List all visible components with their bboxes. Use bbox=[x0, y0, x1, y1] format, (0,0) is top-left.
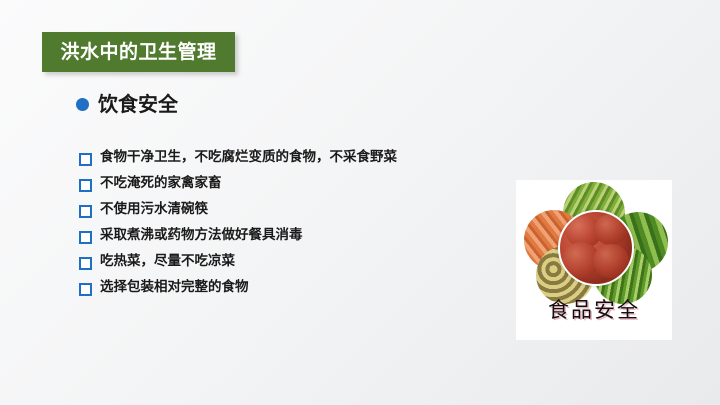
slide-canvas: 洪水中的卫生管理 饮食安全 食物干净卫生，不吃腐烂变质的食物，不采食野菜 不吃淹… bbox=[0, 0, 720, 405]
list-item-label: 选择包装相对完整的食物 bbox=[100, 278, 249, 297]
slide-title-banner: 洪水中的卫生管理 bbox=[42, 32, 235, 72]
list-item: 采取煮沸或药物方法做好餐具消毒 bbox=[79, 226, 499, 252]
tomatoes-photo bbox=[558, 210, 634, 286]
tomato-shape bbox=[593, 244, 629, 278]
list-item: 不使用污水清碗筷 bbox=[79, 200, 499, 226]
flower-collage bbox=[516, 182, 672, 304]
list-item-label: 食物干净卫生，不吃腐烂变质的食物，不采食野菜 bbox=[100, 148, 397, 167]
list-item-label: 不使用污水清碗筷 bbox=[100, 200, 208, 219]
list-item-label: 采取煮沸或药物方法做好餐具消毒 bbox=[100, 226, 303, 245]
image-caption: 食品安全 bbox=[516, 300, 672, 321]
hollow-square-bullet-icon bbox=[79, 283, 92, 296]
slide-title-text: 洪水中的卫生管理 bbox=[60, 43, 216, 62]
food-safety-image-card: 食品安全 bbox=[516, 180, 672, 340]
list-item: 吃热菜，尽量不吃凉菜 bbox=[79, 252, 499, 278]
hollow-square-bullet-icon bbox=[79, 231, 92, 244]
hollow-square-bullet-icon bbox=[79, 257, 92, 270]
hollow-square-bullet-icon bbox=[79, 153, 92, 166]
list-item: 选择包装相对完整的食物 bbox=[79, 278, 499, 304]
section-heading: 饮食安全 bbox=[76, 94, 178, 114]
list-item: 不吃淹死的家禽家畜 bbox=[79, 174, 499, 200]
hollow-square-bullet-icon bbox=[79, 205, 92, 218]
list-item-label: 吃热菜，尽量不吃凉菜 bbox=[100, 252, 235, 271]
bullet-list: 食物干净卫生，不吃腐烂变质的食物，不采食野菜 不吃淹死的家禽家畜 不使用污水清碗… bbox=[79, 148, 499, 304]
list-item-label: 不吃淹死的家禽家畜 bbox=[100, 174, 222, 193]
section-heading-text: 饮食安全 bbox=[98, 94, 178, 114]
hollow-square-bullet-icon bbox=[79, 179, 92, 192]
tomato-shape bbox=[594, 214, 628, 245]
list-item: 食物干净卫生，不吃腐烂变质的食物，不采食野菜 bbox=[79, 148, 499, 174]
filled-circle-bullet-icon bbox=[76, 98, 89, 111]
